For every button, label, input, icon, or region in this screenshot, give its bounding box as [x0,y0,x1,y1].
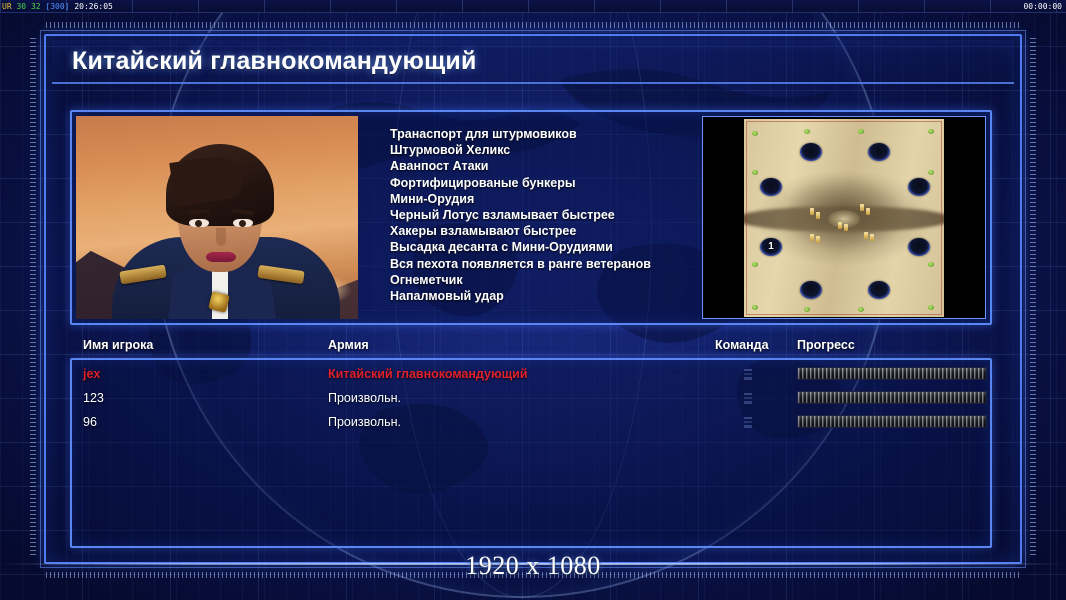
minimap-start-position[interactable]: 1 [760,238,782,256]
progress-sheen [798,392,986,403]
player-list-headers: Имя игрока Армия Команда Прогресс [70,338,992,356]
player-team-selector[interactable] [742,392,754,405]
minimap-supply-marker [860,204,864,211]
minimap-supply-marker [810,208,814,215]
progress-sheen [798,368,986,379]
player-progress-bar [797,391,987,404]
portrait-eye-left [189,219,209,227]
portrait-eye-right [233,219,253,227]
minimap-supply-marker [864,232,868,239]
player-row[interactable]: jexКитайский главнокомандующий [70,364,992,388]
player-army[interactable]: Китайский главнокомандующий [328,366,528,382]
start-position-label: 1 [768,242,774,252]
minimap-start-position[interactable] [908,178,930,196]
minimap-supply-marker [810,234,814,241]
player-team-selector[interactable] [742,416,754,429]
minimap-start-position[interactable] [868,143,890,161]
player-name: 96 [83,414,97,430]
minimap-start-position[interactable] [760,178,782,196]
player-team-selector[interactable] [742,368,754,381]
player-row[interactable]: 123Произвольн. [70,388,992,412]
general-info-panel: Транаспорт для штурмовиковШтурмовой Хели… [70,110,992,325]
portrait-nose [216,228,226,246]
status-bar: UR 30 32 [300] 20:26:05 00:00:00 [0,0,1066,13]
minimap-supply-marker [866,208,870,215]
minimap-supply-marker [870,234,874,241]
minimap-tech-marker [928,262,934,267]
progress-sheen [798,416,986,427]
performance-stats: UR 30 32 [300] 20:26:05 [2,1,113,12]
minimap-supply-marker [816,236,820,243]
minimap-tech-marker [752,170,758,175]
team-selector-icon [744,393,752,404]
minimap-start-position[interactable] [800,143,822,161]
player-army[interactable]: Произвольн. [328,390,401,406]
game-lobby-screen: UR 30 32 [300] 20:26:05 00:00:00 Китайск… [0,0,1066,600]
stat-value-c: [300] [45,2,69,11]
column-header-army: Армия [328,338,369,352]
minimap-tech-marker [752,262,758,267]
column-header-team: Команда [715,338,769,352]
minimap-tech-marker [928,170,934,175]
minimap-tech-marker [928,129,934,134]
minimap-start-position[interactable] [908,238,930,256]
minimap-tech-marker [804,129,810,134]
minimap-tech-marker [858,307,864,312]
minimap-preview[interactable]: 1 [744,119,944,317]
portrait-lips [206,252,236,262]
minimap-start-position[interactable] [800,281,822,299]
column-header-progress: Прогресс [797,338,855,352]
ruler-top [46,22,1020,28]
page-title: Китайский главнокомандующий [72,47,477,76]
player-name: jex [83,366,100,382]
minimap-tech-marker [928,305,934,310]
team-selector-icon [744,369,752,380]
ruler-left [30,38,36,558]
title-bar: Китайский главнокомандующий [52,40,1014,84]
minimap-supply-marker [844,224,848,231]
player-progress-bar [797,367,987,380]
stat-clock: 20:26:05 [74,2,113,11]
minimap-tech-marker [858,129,864,134]
stat-value-a: 30 [16,2,26,11]
minimap-start-position[interactable] [868,281,890,299]
minimap-tech-marker [804,307,810,312]
player-row[interactable]: 96Произвольн. [70,412,992,436]
minimap-supply-marker [816,212,820,219]
minimap-tech-marker [752,305,758,310]
stat-value-b: 32 [31,2,41,11]
minimap-frame[interactable]: 1 [702,116,986,319]
team-selector-icon [744,417,752,428]
status-bar-cells [0,0,1066,12]
column-header-name: Имя игрока [83,338,153,352]
match-timer: 00:00:00 [1023,1,1062,12]
stat-fps-label: UR [2,2,12,11]
general-portrait [76,116,358,319]
player-name: 123 [83,390,104,406]
minimap-supply-marker [838,222,842,229]
player-list-rows: jexКитайский главнокомандующий123Произво… [70,364,992,436]
minimap-tech-marker [752,131,758,136]
resolution-label: 1920 x 1080 [0,551,1066,581]
player-army[interactable]: Произвольн. [328,414,401,430]
player-progress-bar [797,415,987,428]
ruler-right [1030,38,1036,558]
